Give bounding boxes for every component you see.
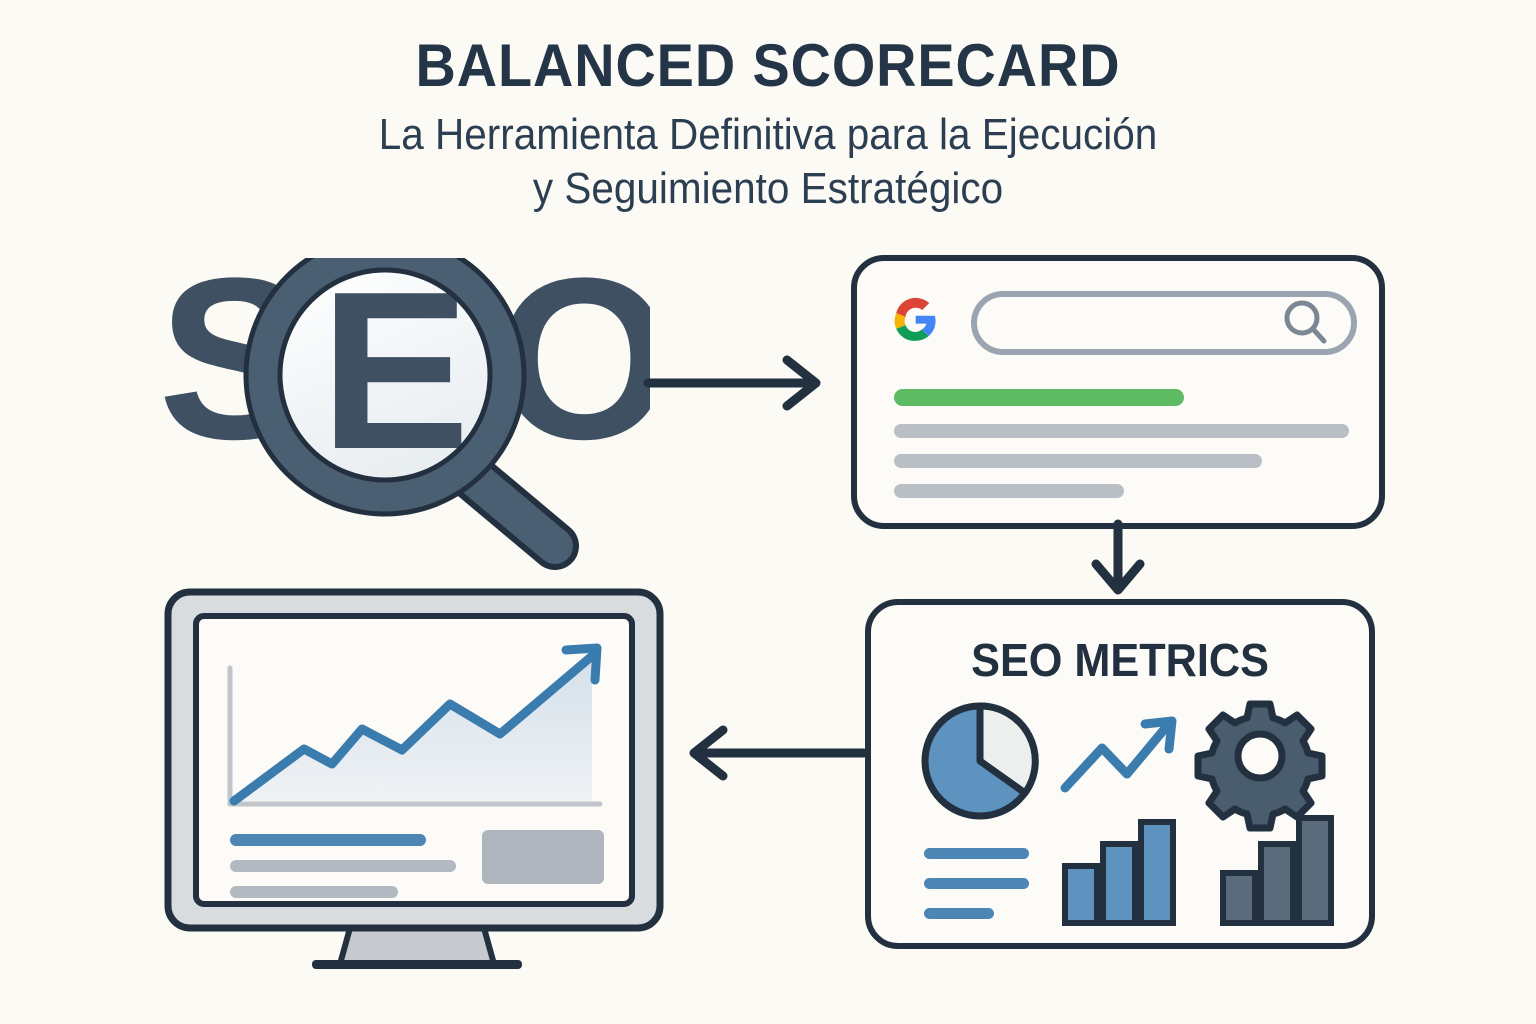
seo-metrics-card[interactable]: SEO METRICS xyxy=(862,596,1378,952)
arrow-right-icon xyxy=(648,360,816,406)
metric-line-1 xyxy=(924,848,1029,859)
monitor-line-1 xyxy=(230,834,426,846)
page-subtitle: La Herramienta Definitiva para la Ejecuc… xyxy=(61,108,1474,215)
bar-gray-2 xyxy=(1261,844,1293,923)
result-bar-1 xyxy=(894,424,1349,438)
dashboard-monitor[interactable] xyxy=(162,586,672,986)
google-search-card[interactable] xyxy=(848,252,1388,532)
header-block: BALANCED SCORECARD La Herramienta Defini… xyxy=(0,36,1536,215)
search-input xyxy=(974,294,1354,352)
metric-line-2 xyxy=(924,878,1029,889)
gear-icon xyxy=(1198,704,1322,828)
arrow-seo-to-google xyxy=(640,348,840,418)
arrow-down-icon xyxy=(1096,524,1140,590)
monitor-line-3 xyxy=(230,886,398,898)
metric-line-3 xyxy=(924,908,994,919)
result-bar-3 xyxy=(894,484,1124,498)
monitor-base xyxy=(312,960,522,969)
subtitle-line-2: y Seguimiento Estratégico xyxy=(61,162,1474,216)
subtitle-line-1: La Herramienta Definitiva para la Ejecuc… xyxy=(61,108,1474,162)
image-placeholder-block xyxy=(482,830,604,884)
bar-blue-3 xyxy=(1141,822,1173,923)
monitor-stand xyxy=(312,928,522,969)
result-bar-highlighted xyxy=(894,389,1184,406)
bar-blue-2 xyxy=(1103,844,1135,923)
pie-chart-icon xyxy=(925,706,1035,816)
arrow-left-icon xyxy=(694,730,864,776)
arrow-metrics-to-monitor xyxy=(668,718,873,788)
bar-blue-1 xyxy=(1065,866,1097,923)
arrow-google-to-metrics xyxy=(1058,518,1178,604)
page-title: BALANCED SCORECARD xyxy=(54,36,1482,96)
metrics-card-title: SEO METRICS xyxy=(971,636,1269,686)
monitor-line-2 xyxy=(230,860,456,872)
bar-gray-1 xyxy=(1223,873,1255,923)
result-bar-2 xyxy=(894,454,1262,468)
infographic-canvas: BALANCED SCORECARD La Herramienta Defini… xyxy=(0,0,1536,1024)
seo-logo: S O E xyxy=(150,258,650,578)
bar-gray-3 xyxy=(1299,818,1331,923)
